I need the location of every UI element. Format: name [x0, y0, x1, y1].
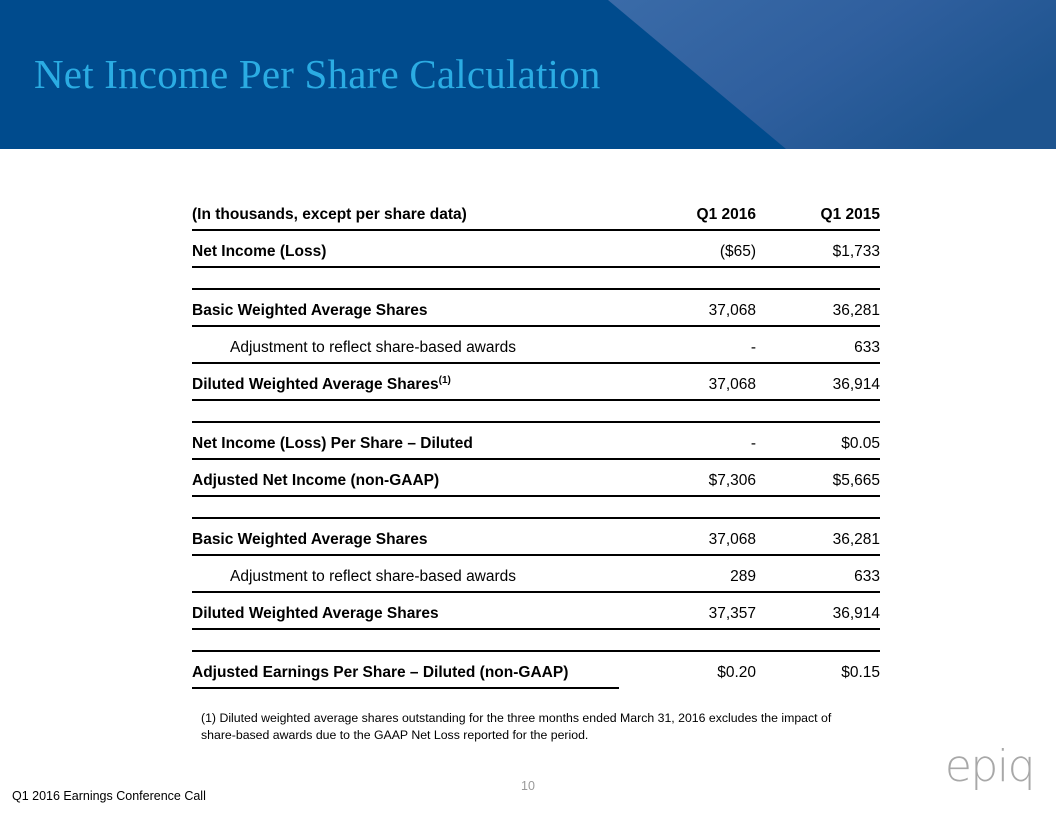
row-label-adjusted-net-income: Adjusted Net Income (non-GAAP) — [192, 460, 632, 495]
financial-table-container: (In thousands, except per share data) Q1… — [192, 196, 880, 689]
column-header-label: (In thousands, except per share data) — [192, 196, 632, 229]
cell-diluted-weighted-avg-1-q1-2016: 37,068 — [632, 364, 756, 399]
row-label-basic-weighted-avg-2: Basic Weighted Average Shares — [192, 519, 632, 554]
table-row: Basic Weighted Average Shares 37,068 36,… — [192, 290, 880, 325]
cell-diluted-weighted-avg-2-q1-2015: 36,914 — [756, 593, 880, 628]
table-row: Basic Weighted Average Shares 37,068 36,… — [192, 519, 880, 554]
rule-line-short — [192, 687, 880, 689]
table-header-row: (In thousands, except per share data) Q1… — [192, 196, 880, 229]
row-label-adjustment-1: Adjustment to reflect share-based awards — [192, 327, 632, 362]
cell-net-income-per-share-diluted-q1-2015: $0.05 — [756, 423, 880, 458]
row-label-diluted-weighted-avg-2: Diluted Weighted Average Shares — [192, 593, 632, 628]
net-income-per-share-table: (In thousands, except per share data) Q1… — [192, 196, 880, 689]
section-gap — [192, 268, 880, 288]
cell-diluted-weighted-avg-2-q1-2016: 37,357 — [632, 593, 756, 628]
footnote-marker: (1) — [439, 375, 451, 386]
cell-adjustment-1-q1-2015: 633 — [756, 327, 880, 362]
epiq-logo: epiq — [945, 745, 1034, 789]
cell-basic-weighted-avg-2-q1-2015: 36,281 — [756, 519, 880, 554]
row-label-text: Diluted Weighted Average Shares — [192, 376, 439, 393]
cell-adjusted-net-income-q1-2016: $7,306 — [632, 460, 756, 495]
cell-diluted-weighted-avg-1-q1-2015: 36,914 — [756, 364, 880, 399]
cell-basic-weighted-avg-1-q1-2015: 36,281 — [756, 290, 880, 325]
table-row: Net Income (Loss) ($65) $1,733 — [192, 231, 880, 266]
cell-net-income-loss-q1-2016: ($65) — [632, 231, 756, 266]
section-gap — [192, 401, 880, 421]
table-row: Diluted Weighted Average Shares(1) 37,06… — [192, 364, 880, 399]
cell-basic-weighted-avg-2-q1-2016: 37,068 — [632, 519, 756, 554]
table-row: Diluted Weighted Average Shares 37,357 3… — [192, 593, 880, 628]
row-label-basic-weighted-avg-1: Basic Weighted Average Shares — [192, 290, 632, 325]
page-number: 10 — [0, 779, 1056, 793]
column-header-q1-2015: Q1 2015 — [756, 196, 880, 229]
cell-net-income-per-share-diluted-q1-2016: - — [632, 423, 756, 458]
row-label-net-income-per-share-diluted: Net Income (Loss) Per Share – Diluted — [192, 423, 632, 458]
cell-adjustment-2-q1-2016: 289 — [632, 556, 756, 591]
table-row: Adjustment to reflect share-based awards… — [192, 327, 880, 362]
cell-net-income-loss-q1-2015: $1,733 — [756, 231, 880, 266]
cell-basic-weighted-avg-1-q1-2016: 37,068 — [632, 290, 756, 325]
row-label-net-income-loss: Net Income (Loss) — [192, 231, 632, 266]
table-row: Adjusted Earnings Per Share – Diluted (n… — [192, 652, 880, 687]
cell-adjustment-2-q1-2015: 633 — [756, 556, 880, 591]
cell-adjustment-1-q1-2016: - — [632, 327, 756, 362]
section-gap — [192, 497, 880, 517]
cell-adjusted-eps-diluted-q1-2016: $0.20 — [632, 652, 756, 687]
footnote-text: (1) Diluted weighted average shares outs… — [201, 710, 861, 743]
column-header-q1-2016: Q1 2016 — [632, 196, 756, 229]
page-title: Net Income Per Share Calculation — [34, 50, 601, 98]
row-label-adjusted-eps-diluted: Adjusted Earnings Per Share – Diluted (n… — [192, 652, 632, 687]
slide-header-band: Net Income Per Share Calculation — [0, 0, 1056, 149]
table-row: Net Income (Loss) Per Share – Diluted - … — [192, 423, 880, 458]
section-gap — [192, 630, 880, 650]
table-row: Adjusted Net Income (non-GAAP) $7,306 $5… — [192, 460, 880, 495]
cell-adjusted-net-income-q1-2015: $5,665 — [756, 460, 880, 495]
cell-adjusted-eps-diluted-q1-2015: $0.15 — [756, 652, 880, 687]
table-row: Adjustment to reflect share-based awards… — [192, 556, 880, 591]
row-label-diluted-weighted-avg-1: Diluted Weighted Average Shares(1) — [192, 364, 632, 399]
row-label-adjustment-2: Adjustment to reflect share-based awards — [192, 556, 632, 591]
